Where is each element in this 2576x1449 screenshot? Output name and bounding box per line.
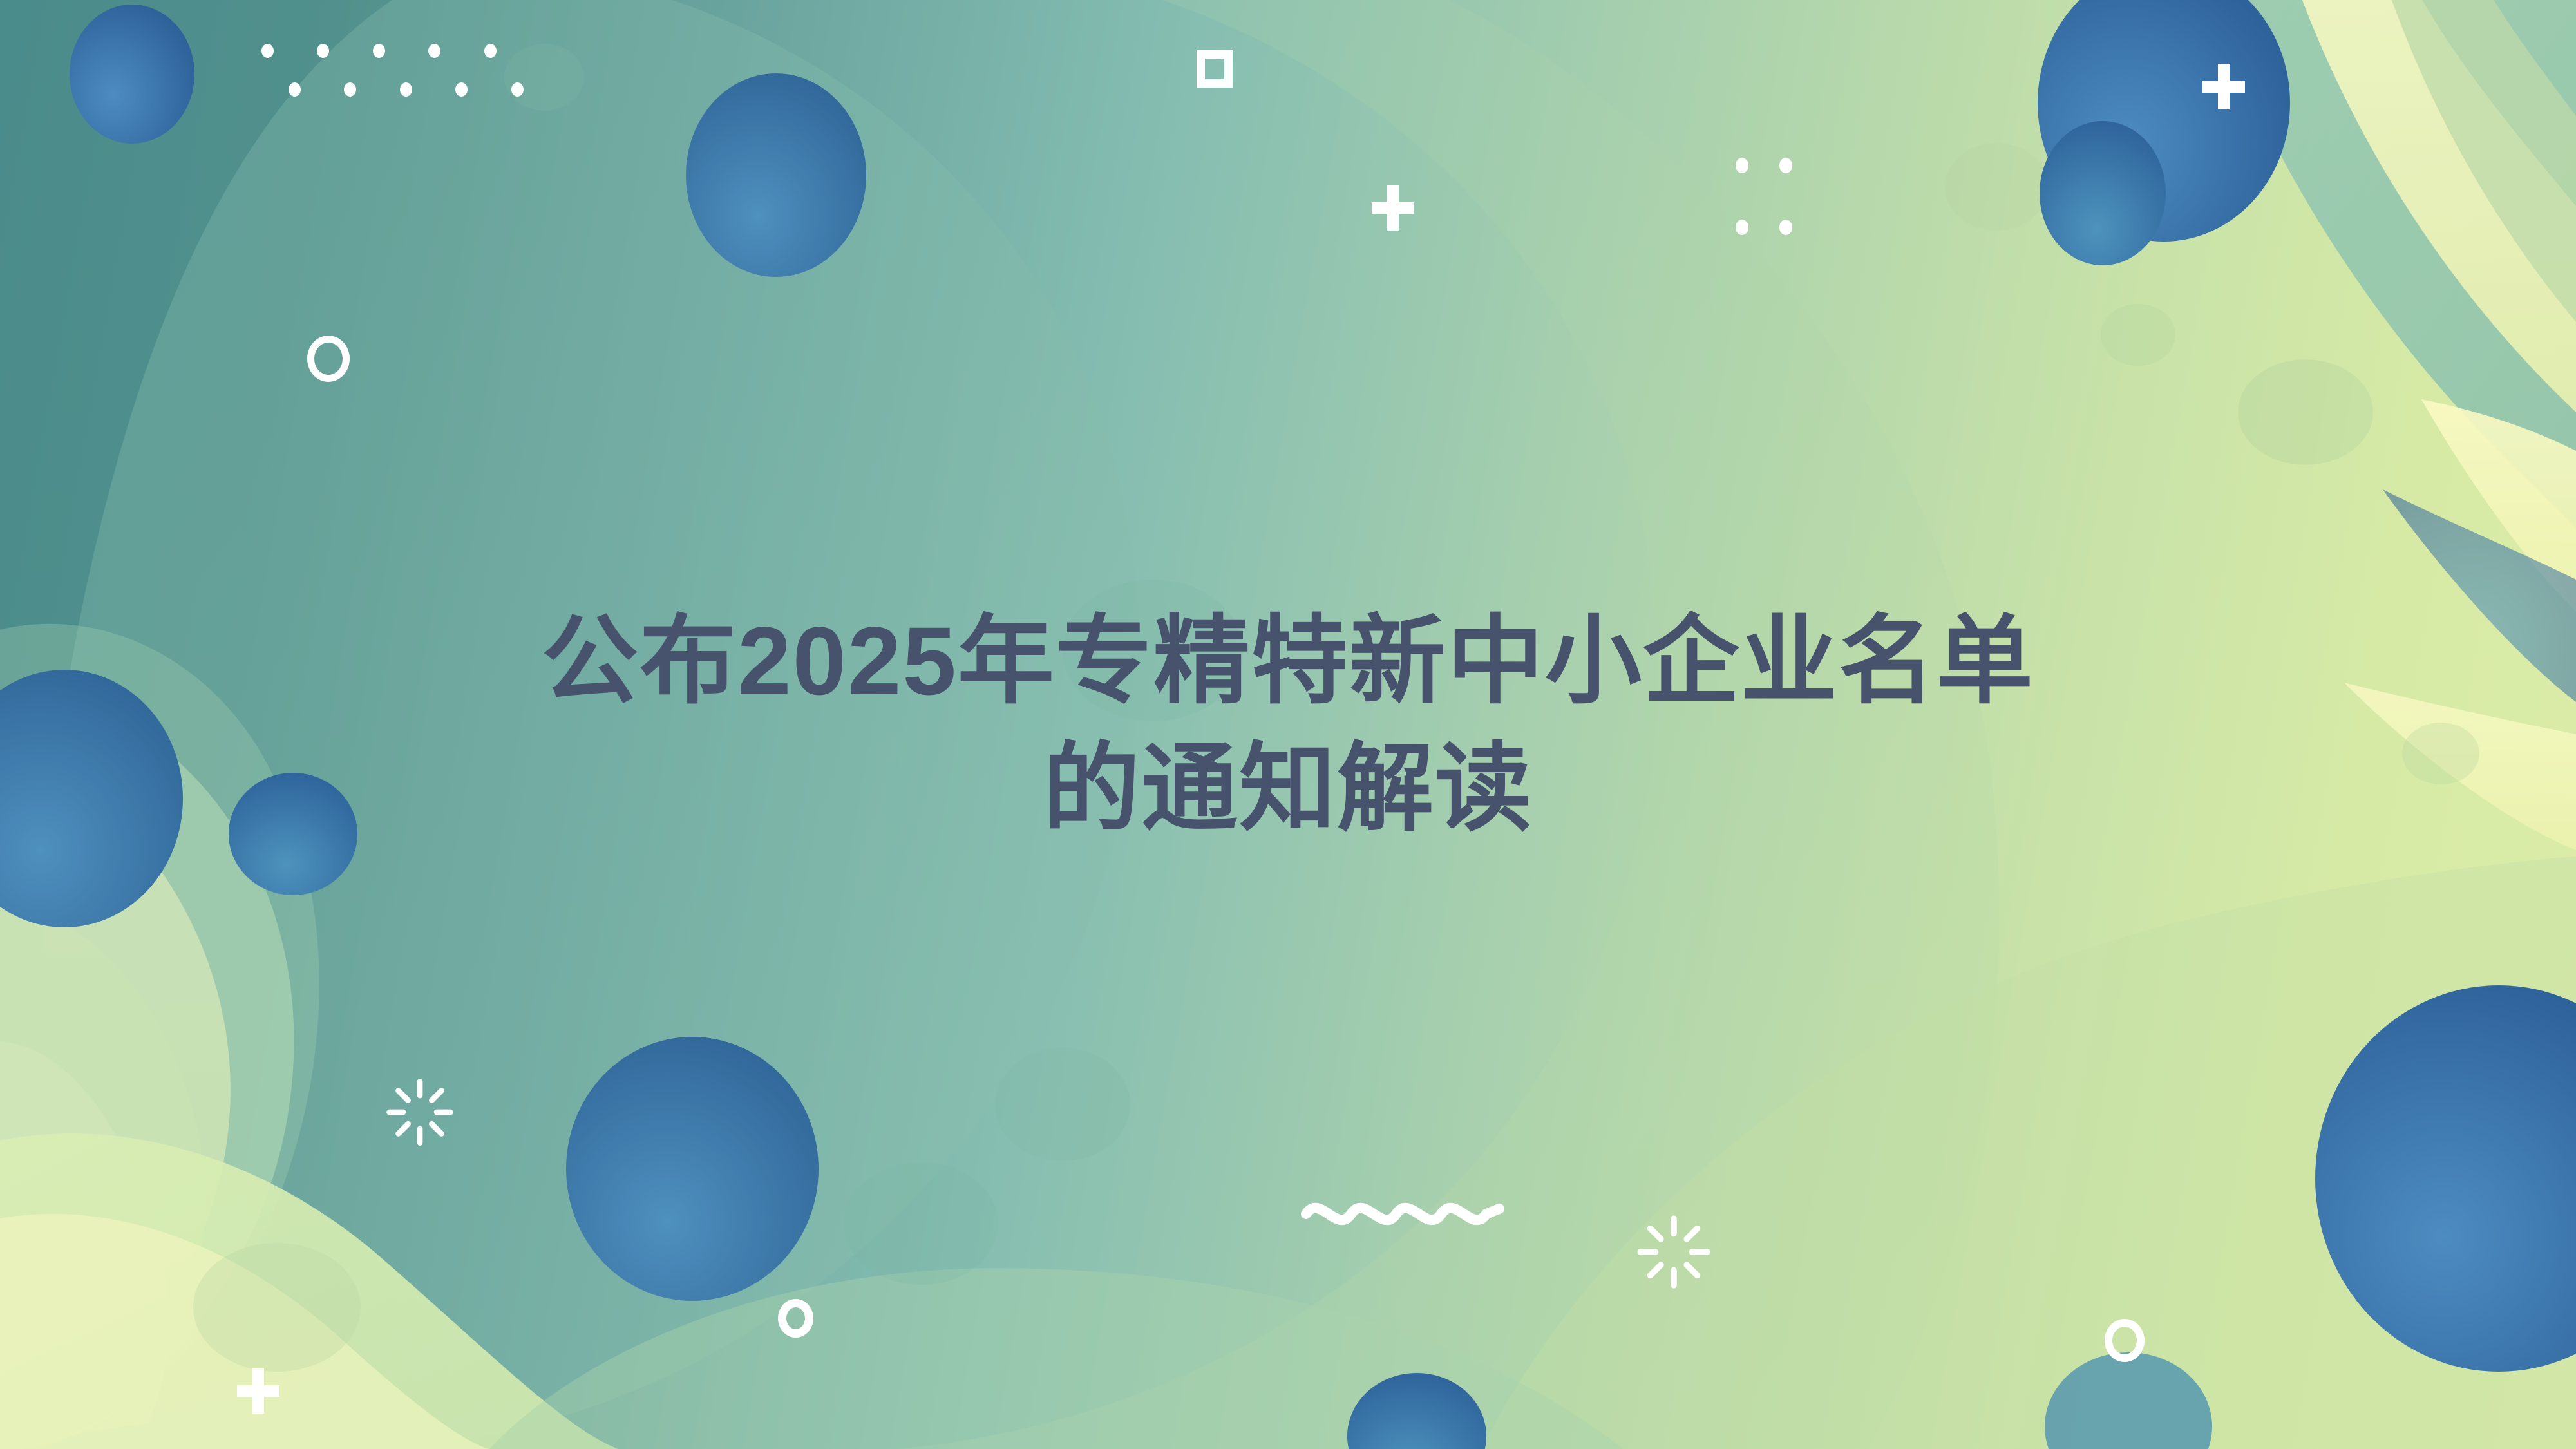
dot-grid-top-right [1736,158,1792,235]
ghost-ellipse-9 [504,44,584,111]
slide-title: 公布2025年专精特新中小企业名单 的通知解读 [542,597,2034,852]
dot [400,82,412,97]
plus-vertical-bar [252,1368,264,1414]
dot [428,44,440,58]
ring-bottom-right-icon [2105,1319,2145,1362]
dot [1779,220,1792,235]
square-outline-icon [1197,50,1233,88]
blue-circle-center-bottom [566,1037,819,1301]
plus-top-center-icon [1372,185,1414,231]
dot [455,82,468,97]
dot [511,82,524,97]
ghost-ellipse-5 [2238,359,2373,465]
ghost-ellipse-4 [1945,143,2048,231]
burst-left-icon [385,1077,455,1147]
plus-vertical-bar [2218,64,2230,109]
ghost-ellipse-3 [193,1243,361,1372]
dot [261,44,274,58]
plus-top-right-icon [2202,64,2245,109]
ring-top-left-icon [307,336,350,382]
dot [1779,158,1792,173]
dot [344,82,356,97]
dot [289,82,301,97]
plus-vertical-bar [1387,185,1399,231]
blue-circle-mid-left [229,773,357,895]
ghost-ellipse-7 [2402,723,2479,784]
blue-circle-top-left [70,5,194,144]
blue-circle-top-mid [686,73,866,277]
dot [317,44,329,58]
ghost-ellipse-8 [995,1048,1130,1161]
dot [373,44,385,58]
blue-circle-top-far-right [2040,121,2166,265]
dot [1736,158,1748,173]
dot-grid-top-left [261,44,500,58]
dot-grid-top-left-row2 [289,82,527,97]
plus-bottom-left-icon [237,1368,279,1414]
burst-bottom-center-icon [1636,1214,1712,1290]
ghost-ellipse-2 [844,1162,998,1285]
ring-bottom-center-icon [778,1299,813,1338]
dot [484,44,497,58]
ghost-ellipse-6 [2101,304,2175,366]
wave-squiggle-icon [1300,1195,1506,1253]
slide-canvas: 公布2025年专精特新中小企业名单 的通知解读 [0,0,2576,1449]
dot [1736,220,1748,235]
